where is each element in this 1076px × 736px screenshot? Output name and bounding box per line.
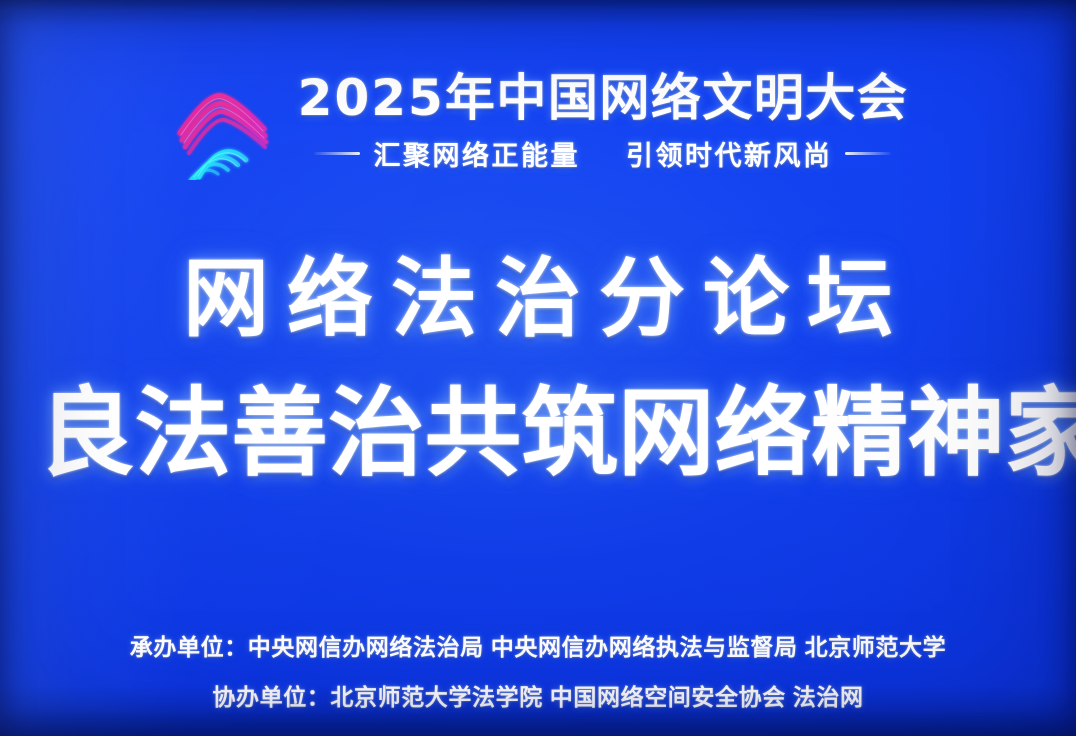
slogan-right: 引领时代新风尚	[626, 134, 833, 173]
conference-backdrop-poster: 2025年中国网络文明大会 汇聚网络正能量 引领时代新风尚 网络法治分论坛 良法…	[0, 0, 1076, 736]
slogan-dash-right-icon	[845, 152, 891, 155]
slogan-dash-left-icon	[314, 152, 360, 155]
conference-title: 2025年中国网络文明大会	[298, 72, 909, 125]
conference-year: 2025	[298, 69, 445, 127]
pagoda-wave-logo-icon	[168, 76, 276, 180]
co-organizations-line: 协办单位：北京师范大学法学院 中国网络空间安全协会 法治网	[212, 678, 863, 712]
conference-slogan: 汇聚网络正能量 引领时代新风尚	[314, 134, 891, 173]
header-text-block: 2025年中国网络文明大会 汇聚网络正能量 引领时代新风尚	[298, 70, 909, 173]
forum-theme: 良法善治共筑网络精神家园	[38, 386, 1038, 483]
slogan-left: 汇聚网络正能量	[373, 134, 580, 173]
credits-block: 承办单位：中央网信办网络法治局 中央网信办网络执法与监督局 北京师范大学 协办单…	[0, 628, 1076, 712]
header-inner: 2025年中国网络文明大会 汇聚网络正能量 引领时代新风尚	[168, 70, 909, 180]
conference-title-suffix: 年中国网络文明大会	[445, 70, 909, 126]
forum-title: 网络法治分论坛	[0, 256, 1076, 342]
host-organizations-line: 承办单位：中央网信办网络法治局 中央网信办网络执法与监督局 北京师范大学	[130, 628, 946, 662]
conference-header-lockup: 2025年中国网络文明大会 汇聚网络正能量 引领时代新风尚	[0, 62, 1076, 188]
